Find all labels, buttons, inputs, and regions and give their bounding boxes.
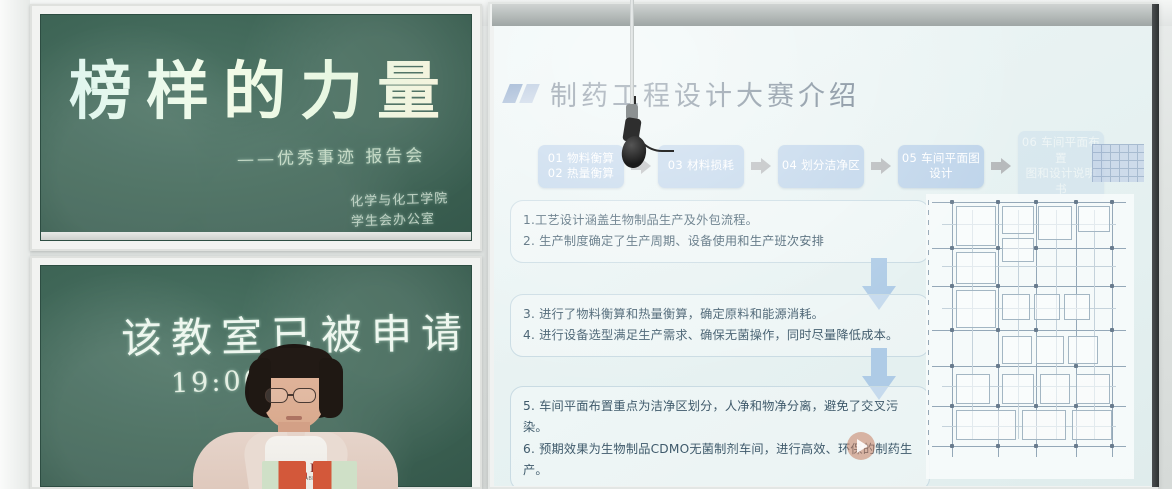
slide-card-1-text: 1.工艺设计涵盖生物制品生产及外包流程。 2. 生产制度确定了生产周期、设备使用…	[523, 210, 917, 253]
mouth	[286, 416, 302, 420]
slide-card-1: 1.工艺设计涵盖生物制品生产及外包流程。 2. 生产制度确定了生产周期、设备使用…	[510, 200, 930, 263]
hanging-microphone	[612, 0, 682, 175]
glasses-bridge	[288, 394, 294, 396]
chalkboard-subtitle: ——优秀事迹 报告会	[237, 141, 426, 170]
screen-right-edge	[1152, 4, 1159, 487]
floorplan-thumbnail	[1092, 144, 1144, 182]
classroom-scene: 榜样的力量 ——优秀事迹 报告会 化学与化工学院 学生会办公室 2025.3.1…	[0, 0, 1172, 489]
hair-side-right	[319, 358, 343, 418]
chalkboard-upper: 榜样的力量 ——优秀事迹 报告会 化学与化工学院 学生会办公室 2025.3.1…	[30, 4, 482, 251]
screen-roller-bar	[492, 4, 1154, 26]
workshop-floorplan-drawing	[926, 194, 1134, 479]
glasses-lens-left	[265, 388, 288, 403]
left-wall	[0, 0, 30, 489]
flow-step-05: 05 车间平面图 设计	[898, 145, 984, 188]
book-right	[313, 461, 357, 489]
glasses-lens-right	[293, 388, 316, 403]
play-icon[interactable]	[847, 432, 875, 460]
chalkboard-title: 榜样的力量	[69, 41, 454, 132]
flow-arrow-icon-3	[871, 158, 891, 174]
book-left	[262, 461, 306, 489]
chalkboard-upper-surface: 榜样的力量 ——优秀事迹 报告会 化学与化工学院 学生会办公室 2025.3.1…	[40, 14, 472, 241]
slide-card-2-text: 3. 进行了物料衡算和热量衡算，确定原料和能源消耗。 4. 进行设备选型满足生产…	[523, 304, 917, 347]
projected-slide: 制药工程设计大赛介绍 01 物料衡算 02 热量衡算 03 材料损耗 04 划分…	[494, 26, 1152, 486]
flow-arrow-icon-2	[751, 158, 771, 174]
hair-side-left	[249, 358, 271, 414]
slide-title: 制药工程设计大赛介绍	[550, 74, 860, 113]
slide-title-row: 制药工程设计大赛介绍	[506, 74, 860, 113]
presenter-person: IF OR ORIGINAL LABEL	[193, 344, 398, 489]
accent-bars-icon	[506, 84, 536, 103]
flow-arrow-icon-4	[991, 158, 1011, 174]
chalk-tray-upper	[41, 232, 471, 241]
slide-card-3: 5. 车间平面布置重点为洁净区划分，人净和物净分离，避免了交叉污染。 6. 预期…	[510, 386, 930, 486]
flow-step-04: 04 划分洁净区	[778, 145, 864, 188]
